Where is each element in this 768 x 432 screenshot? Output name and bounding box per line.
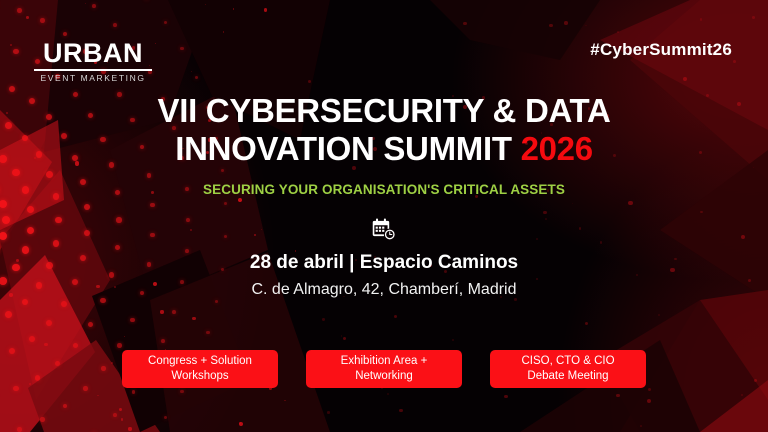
event-title: VII CYBERSECURITY & DATA INNOVATION SUMM… bbox=[0, 92, 768, 169]
logo-divider bbox=[34, 69, 152, 71]
event-address: C. de Almagro, 42, Chamberí, Madrid bbox=[0, 281, 768, 299]
exhibition-networking-button[interactable]: Exhibition Area + Networking bbox=[306, 350, 462, 388]
logo-wordmark: URBAN bbox=[34, 40, 152, 67]
program-buttons: Congress + Solution Workshops Exhibition… bbox=[0, 350, 768, 388]
calendar-icon-wrapper bbox=[0, 217, 768, 243]
event-subtitle: SECURING YOUR ORGANISATION'S CRITICAL AS… bbox=[0, 182, 768, 197]
logo-tagline: EVENT MARKETING bbox=[34, 74, 152, 83]
event-promo-poster: URBAN EVENT MARKETING #CyberSummit26 VII… bbox=[0, 0, 768, 432]
event-date-venue: 28 de abril | Espacio Caminos bbox=[0, 252, 768, 274]
calendar-clock-icon bbox=[371, 217, 397, 243]
event-title-line2: INNOVATION SUMMIT bbox=[175, 130, 512, 167]
urban-logo: URBAN EVENT MARKETING bbox=[34, 40, 152, 83]
congress-workshops-button[interactable]: Congress + Solution Workshops bbox=[122, 350, 278, 388]
ciso-cto-cio-debate-button[interactable]: CISO, CTO & CIO Debate Meeting bbox=[490, 350, 646, 388]
event-title-line1: VII CYBERSECURITY & DATA bbox=[157, 92, 610, 129]
event-hashtag: #CyberSummit26 bbox=[590, 40, 732, 60]
event-title-year: 2026 bbox=[521, 130, 593, 167]
